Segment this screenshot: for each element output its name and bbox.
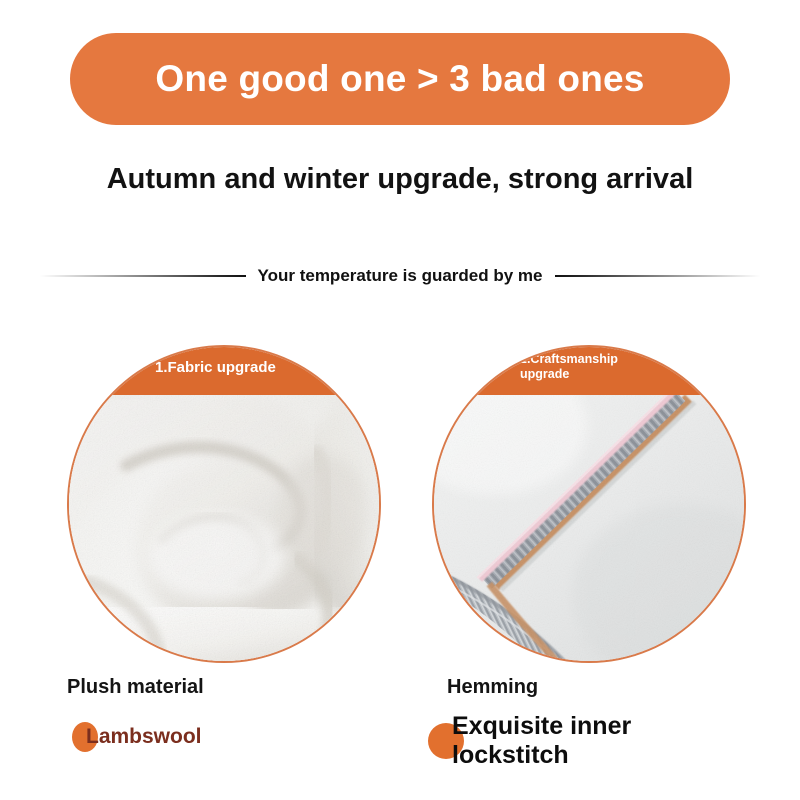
fabric-ribbon-label: 1.Fabric upgrade [155,359,276,377]
craft-photo-circle: 2.Craftsmanship upgrade [432,345,746,663]
craft-ribbon-label: 2.Craftsmanship upgrade [520,352,670,383]
hero-banner-text: One good one > 3 bad ones [155,58,644,100]
divider-label: Your temperature is guarded by me [258,266,543,286]
feature-panel-fabric: 1.Fabric upgrade [67,345,381,663]
lockstitch-tag: Exquisite inner lockstitch [428,712,667,769]
craft-caption: Hemming [447,676,538,699]
lambswool-tag: Lambswool [72,722,202,752]
feature-panel-craftsmanship: 2.Craftsmanship upgrade [432,345,746,663]
section-divider: Your temperature is guarded by me [40,258,760,294]
hero-banner: One good one > 3 bad ones [70,33,730,125]
fabric-photo-circle: 1.Fabric upgrade [67,345,381,663]
lockstitch-tag-label: Exquisite inner lockstitch [452,712,667,769]
divider-rule-right [555,275,761,277]
fabric-caption: Plush material [67,676,204,699]
lambswool-tag-label: Lambswool [86,725,202,749]
divider-rule-left [40,275,246,277]
subtitle-text: Autumn and winter upgrade, strong arriva… [0,163,800,196]
